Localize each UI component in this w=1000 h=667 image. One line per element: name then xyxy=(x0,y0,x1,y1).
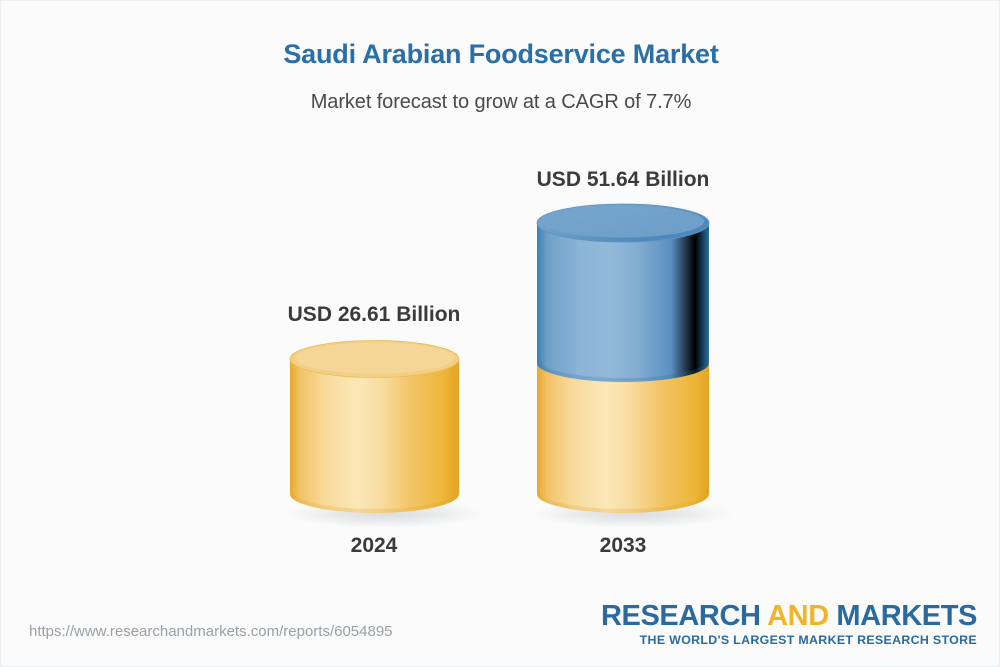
brand-tagline: THE WORLD'S LARGEST MARKET RESEARCH STOR… xyxy=(601,633,977,647)
category-label-2033: 2033 xyxy=(528,534,718,558)
bar-cylinder-2033 xyxy=(537,204,709,513)
brand-name-and: AND xyxy=(767,600,836,632)
chart-plot-area: USD 26.61 Billion USD 51.64 Billion 2024… xyxy=(1,1,1000,601)
category-label-2024: 2024 xyxy=(279,534,469,558)
brand-name: RESEARCH AND MARKETS xyxy=(601,601,977,631)
report-url[interactable]: https://www.researchandmarkets.com/repor… xyxy=(29,623,393,640)
value-label-2033: USD 51.64 Billion xyxy=(478,168,768,192)
chart-card: Saudi Arabian Foodservice Market Market … xyxy=(0,0,1000,667)
value-label-2024: USD 26.61 Billion xyxy=(229,303,519,327)
brand-name-markets: MARKETS xyxy=(836,600,977,632)
bar-cylinder-2024 xyxy=(290,341,459,514)
brand-logo: RESEARCH AND MARKETS THE WORLD'S LARGEST… xyxy=(601,601,977,647)
cylinder-bars-svg xyxy=(1,1,1000,601)
brand-name-research: RESEARCH xyxy=(601,600,767,632)
